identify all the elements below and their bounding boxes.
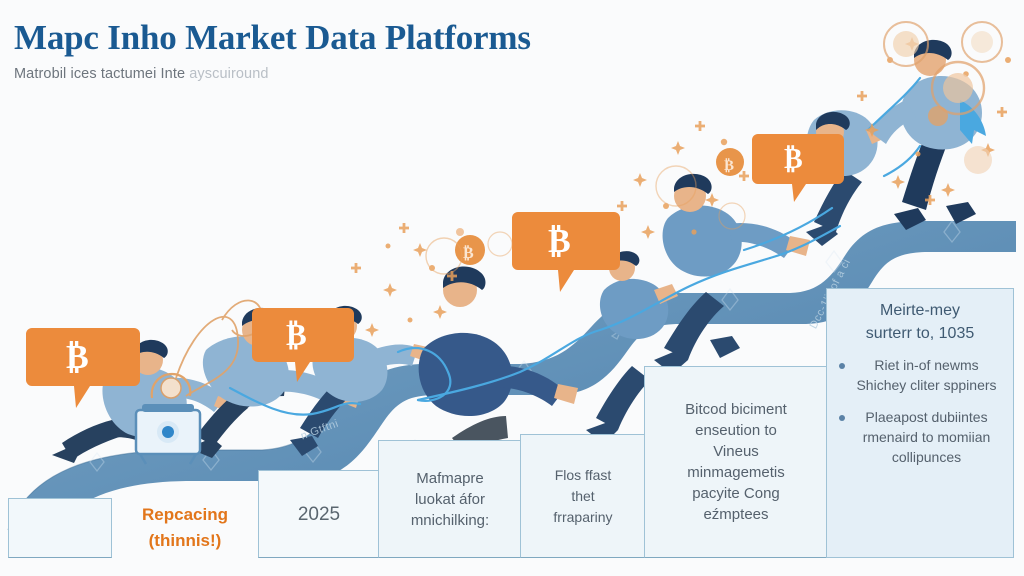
column-year[interactable]: 2025 <box>258 470 380 558</box>
bullet-dot-icon <box>839 363 845 369</box>
column-bitcod-text: Bitcod biciment enseution to Vineus minm… <box>677 399 795 525</box>
subtitle-faint: ayscuiround <box>189 66 268 82</box>
column-mafmapre-text: Mafmapre luokat áfor mnichilking: <box>403 468 497 531</box>
bullet-dot-icon <box>839 415 845 421</box>
column-flos[interactable]: Flos ffast thet frrapariny <box>520 434 646 558</box>
column-flos-text: Flos ffast thet frrapariny <box>545 465 620 528</box>
summary-bullet-2-text: Plaeapost dubiintes rmenaird to momiian … <box>852 407 1001 467</box>
infographic-canvas: ₿ ₿ ₿ ₿ ₿ ₿ <box>0 0 1024 576</box>
column-year-text: 2025 <box>290 504 348 525</box>
summary-bullet-1: Riet in-of newms Shichey cliter sppiners <box>839 355 1001 395</box>
summary-bullet-2: Plaeapost dubiintes rmenaird to momiian … <box>839 407 1001 467</box>
column-bitcod[interactable]: Bitcod biciment enseution to Vineus minm… <box>644 366 828 558</box>
column-repcacing[interactable]: Repcacing (thinnis!) <box>110 498 260 558</box>
subtitle-main: Matrobil ices tactumei Inte <box>14 66 189 82</box>
summary-bullet-1-text: Riet in-of newms Shichey cliter sppiners <box>852 355 1001 395</box>
column-mafmapre[interactable]: Mafmapre luokat áfor mnichilking: <box>378 440 522 558</box>
caption-columns: Repcacing (thinnis!) 2025 Mafmapre luoka… <box>0 0 1024 576</box>
page-subtitle: Matrobil ices tactumei Inte ayscuiround <box>14 66 774 82</box>
header: Mapc Inho Market Data Platforms Matrobil… <box>14 18 774 82</box>
page-title: Mapc Inho Market Data Platforms <box>14 18 774 58</box>
column-empty <box>8 498 112 558</box>
column-summary[interactable]: Meirte-mey surterr to, 1035 Riet in-of n… <box>826 288 1014 558</box>
summary-heading: Meirte-mey surterr to, 1035 <box>839 299 1001 345</box>
column-repcacing-text: Repcacing (thinnis!) <box>134 502 236 554</box>
